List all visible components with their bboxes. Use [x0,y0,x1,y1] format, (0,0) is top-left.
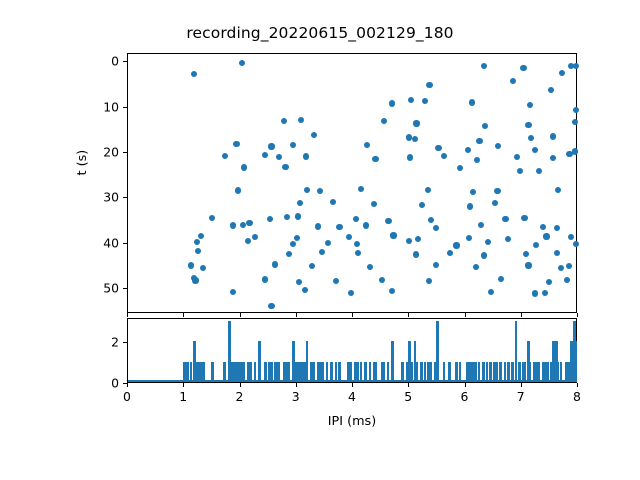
histogram-bar [391,341,394,382]
scatter-point [573,107,579,113]
scatter-point [426,278,432,284]
histogram-bar [528,362,531,382]
histogram-bar [410,362,413,382]
scatter-point [422,98,428,104]
histogram-bar [288,362,291,382]
histogram-bar [424,362,427,382]
histogram-bar [537,362,540,382]
histogram-bar [515,321,518,382]
histogram-bar [211,362,214,382]
histogram-bar [552,341,555,382]
scatter-point [304,187,310,193]
scatter-point [525,262,531,268]
scatter-point [319,249,325,255]
y-tick-label: 40 [85,235,119,250]
scatter-point [482,123,488,129]
scatter-point [532,290,538,296]
x-tick-mark [521,313,522,317]
scatter-point [435,145,441,151]
scatter-point [415,236,421,242]
scatter-point [550,155,556,161]
histogram-bar [474,362,477,382]
histogram-bar [570,341,573,382]
histogram-bar [401,362,404,382]
scatter-point [469,99,475,105]
scatter-point [473,264,479,270]
histogram-bar [364,362,367,382]
x-axis-label: IPI (ms) [127,414,577,429]
x-tick-mark [408,383,409,387]
scatter-point [200,265,206,271]
histogram-bar [300,362,303,382]
y-tick-label: 50 [85,281,119,296]
scatter-point [540,224,546,230]
scatter-point [252,234,258,240]
scatter-point [502,216,508,222]
scatter-point [336,224,342,230]
scatter-point [447,250,453,256]
histogram-bar [560,362,563,382]
histogram-bar [326,362,329,382]
histogram-bars-layer [128,319,576,382]
scatter-point [191,71,197,77]
scatter-point [385,218,391,224]
scatter-point [317,188,323,194]
x-tick-mark [240,383,241,387]
scatter-y-axis-label: t (s) [75,150,90,176]
x-tick-label: 4 [348,389,356,404]
scatter-point [433,225,439,231]
scatter-point [298,117,304,123]
x-tick-mark [577,313,578,317]
scatter-point [517,168,523,174]
histogram-bar [455,362,458,382]
y-tick-label: 0 [85,376,119,391]
histogram-bar [443,362,446,382]
histogram-bar [496,362,499,382]
scatter-point [241,164,247,170]
histogram-bar [349,362,352,382]
y-tick-mark [123,342,127,343]
scatter-point [533,242,539,248]
scatter-point [546,279,552,285]
scatter-point [267,216,273,222]
scatter-point [510,78,516,84]
scatter-point [474,157,480,163]
scatter-point [465,147,471,153]
histogram-bar [369,362,372,382]
scatter-point [325,240,331,246]
scatter-point [282,164,288,170]
scatter-point [494,188,500,194]
histogram-bar [190,362,193,382]
histogram-bar [499,362,502,382]
scatter-point [233,141,239,147]
y-tick-mark [123,152,127,153]
histogram-bar [489,362,492,382]
histogram-bar [482,362,485,382]
histogram-bar [374,362,377,382]
histogram-bar [504,362,507,382]
scatter-point [528,135,534,141]
histogram-bar [360,362,363,382]
x-tick-label: 1 [179,389,187,404]
histogram-bar [478,362,481,382]
scatter-point [425,187,431,193]
scatter-point [239,60,245,66]
x-tick-mark [465,383,466,387]
histogram-bar [338,362,341,382]
scatter-point [505,236,511,242]
scatter-point [457,165,463,171]
x-tick-mark [577,383,578,387]
y-tick-mark [123,288,127,289]
histogram-bar [277,362,280,382]
scatter-point [521,215,527,221]
scatter-point [492,200,498,206]
scatter-point [441,153,447,159]
y-tick-label: 30 [85,190,119,205]
scatter-point [296,279,302,285]
histogram-bar [306,341,309,382]
histogram-bar [546,362,549,382]
histogram-bar [292,341,295,382]
scatter-point [355,250,361,256]
scatter-point [346,234,352,240]
scatter-point [566,263,572,269]
histogram-bar [387,362,390,382]
scatter-point [379,277,385,283]
scatter-point [389,288,395,294]
scatter-point [520,65,526,71]
histogram-bar [223,362,226,382]
scatter-point [514,154,520,160]
x-tick-mark [183,383,184,387]
x-tick-label: 3 [292,389,300,404]
scatter-axes [127,53,577,313]
histogram-bar [556,362,559,382]
histogram-bar [436,321,439,382]
x-tick-mark [465,313,466,317]
scatter-point [284,214,290,220]
scatter-point [367,264,373,270]
scatter-point [272,261,278,267]
scatter-point [478,222,484,228]
histogram-bar [471,362,474,382]
histogram-bar [511,362,514,382]
scatter-point [532,147,538,153]
histogram-bar [186,362,189,382]
scatter-point [548,87,554,93]
scatter-point [290,241,296,247]
histogram-bar [274,362,277,382]
scatter-point [543,233,549,239]
scatter-point [235,187,241,193]
scatter-point [209,215,215,221]
scatter-point [268,303,274,309]
scatter-point [198,233,204,239]
scatter-point [481,252,487,258]
y-tick-mark [123,197,127,198]
x-tick-label: 8 [573,389,581,404]
histogram-bar [486,362,489,382]
scatter-point [453,242,459,248]
histogram-bar [429,362,432,382]
scatter-point [230,289,236,295]
scatter-point [348,290,354,296]
scatter-point [572,119,578,125]
scatter-point [389,100,395,106]
histogram-bar [382,362,385,382]
histogram-bar [312,362,315,382]
scatter-point [309,263,315,269]
scatter-point [195,248,201,254]
histogram-bar [507,362,510,382]
scatter-point [413,120,419,126]
x-tick-mark [352,313,353,317]
histogram-baseline [128,380,576,382]
scatter-point [426,82,432,88]
scatter-point [371,201,377,207]
scatter-point [281,118,287,124]
scatter-point [495,143,501,149]
scatter-point [412,136,418,142]
scatter-point [353,216,359,222]
histogram-bar [228,321,231,382]
histogram-bar [330,362,333,382]
histogram-bar [356,362,359,382]
y-tick-mark [123,107,127,108]
scatter-point [262,276,268,282]
x-tick-mark [408,313,409,317]
scatter-point [286,251,292,257]
scatter-point [407,154,413,160]
scatter-point [568,234,574,240]
x-tick-label: 0 [123,389,131,404]
scatter-point [481,63,487,69]
scatter-point [476,138,482,144]
histogram-bar [420,362,423,382]
scatter-point [408,97,414,103]
scatter-point [230,222,236,228]
scatter-point [188,262,194,268]
scatter-point [297,200,303,206]
x-tick-mark [296,383,297,387]
histogram-bar [258,341,261,382]
scatter-point [330,199,336,205]
scatter-point [573,241,579,247]
x-tick-mark [127,313,128,317]
scatter-point [467,203,473,209]
histogram-bar [243,362,246,382]
scatter-point [523,251,529,257]
scatter-point [354,241,360,247]
scatter-point [558,265,564,271]
scatter-point [433,262,439,268]
scatter-point [572,148,578,154]
y-tick-mark [123,243,127,244]
scatter-point [413,251,419,257]
scatter-point [240,222,246,228]
scatter-point [294,235,300,241]
y-tick-label: 10 [85,99,119,114]
scatter-point [525,122,531,128]
scatter-point [302,287,308,293]
scatter-point [315,223,321,229]
scatter-point [419,202,425,208]
x-tick-mark [296,313,297,317]
scatter-point [554,250,560,256]
histogram-bar [574,341,577,382]
histogram-bar [518,362,521,382]
scatter-point [554,225,560,231]
scatter-point [550,133,556,139]
scatter-point [245,238,251,244]
scatter-point [406,238,412,244]
x-tick-mark [127,383,128,387]
scatter-point [194,239,200,245]
scatter-point [372,156,378,162]
scatter-point [536,168,542,174]
scatter-point [295,213,301,219]
histogram-bar [335,362,338,382]
scatter-point [466,235,472,241]
matplotlib-figure: recording_20220615_002129_180 0102030405… [0,0,640,480]
scatter-point [564,277,570,283]
scatter-point [555,187,561,193]
scatter-point [488,289,494,295]
histogram-bar [264,362,267,382]
scatter-point [542,290,548,296]
scatter-point [222,153,228,159]
x-tick-label: 2 [236,389,244,404]
x-tick-mark [240,313,241,317]
x-tick-mark [352,383,353,387]
histogram-bar [254,362,257,382]
histogram-bar [524,362,527,382]
scatter-point [290,142,296,148]
x-tick-label: 6 [461,389,469,404]
scatter-point [363,222,369,228]
scatter-point [303,153,309,159]
scatter-point [428,217,434,223]
histogram-bar [183,362,186,382]
scatter-point [485,239,491,245]
scatter-point [276,154,282,160]
scatter-point [192,277,198,283]
histogram-bar [202,362,205,382]
histogram-axes [127,318,577,383]
x-tick-mark [183,313,184,317]
scatter-point [390,232,396,238]
scatter-point [498,276,504,282]
x-tick-mark [521,383,522,387]
scatter-point [268,143,274,149]
x-tick-label: 7 [517,389,525,404]
histogram-bar [321,362,324,382]
histogram-bar [271,362,274,382]
scatter-point [470,189,476,195]
figure-title: recording_20220615_002129_180 [0,24,640,42]
histogram-bar [249,362,252,382]
x-tick-label: 5 [404,389,412,404]
histogram-bar [459,362,462,382]
scatter-point [246,220,252,226]
y-tick-label: 2 [85,335,119,350]
scatter-point [573,63,579,69]
y-tick-label: 0 [85,54,119,69]
scatter-point [381,118,387,124]
scatter-points-layer [128,54,576,312]
histogram-bar [448,362,451,382]
histogram-bar [416,362,419,382]
y-tick-mark [123,61,127,62]
scatter-point [358,186,364,192]
scatter-point [364,142,370,148]
scatter-point [559,70,565,76]
scatter-point [262,152,268,158]
scatter-point [311,132,317,138]
scatter-point [333,278,339,284]
scatter-point [527,102,533,108]
